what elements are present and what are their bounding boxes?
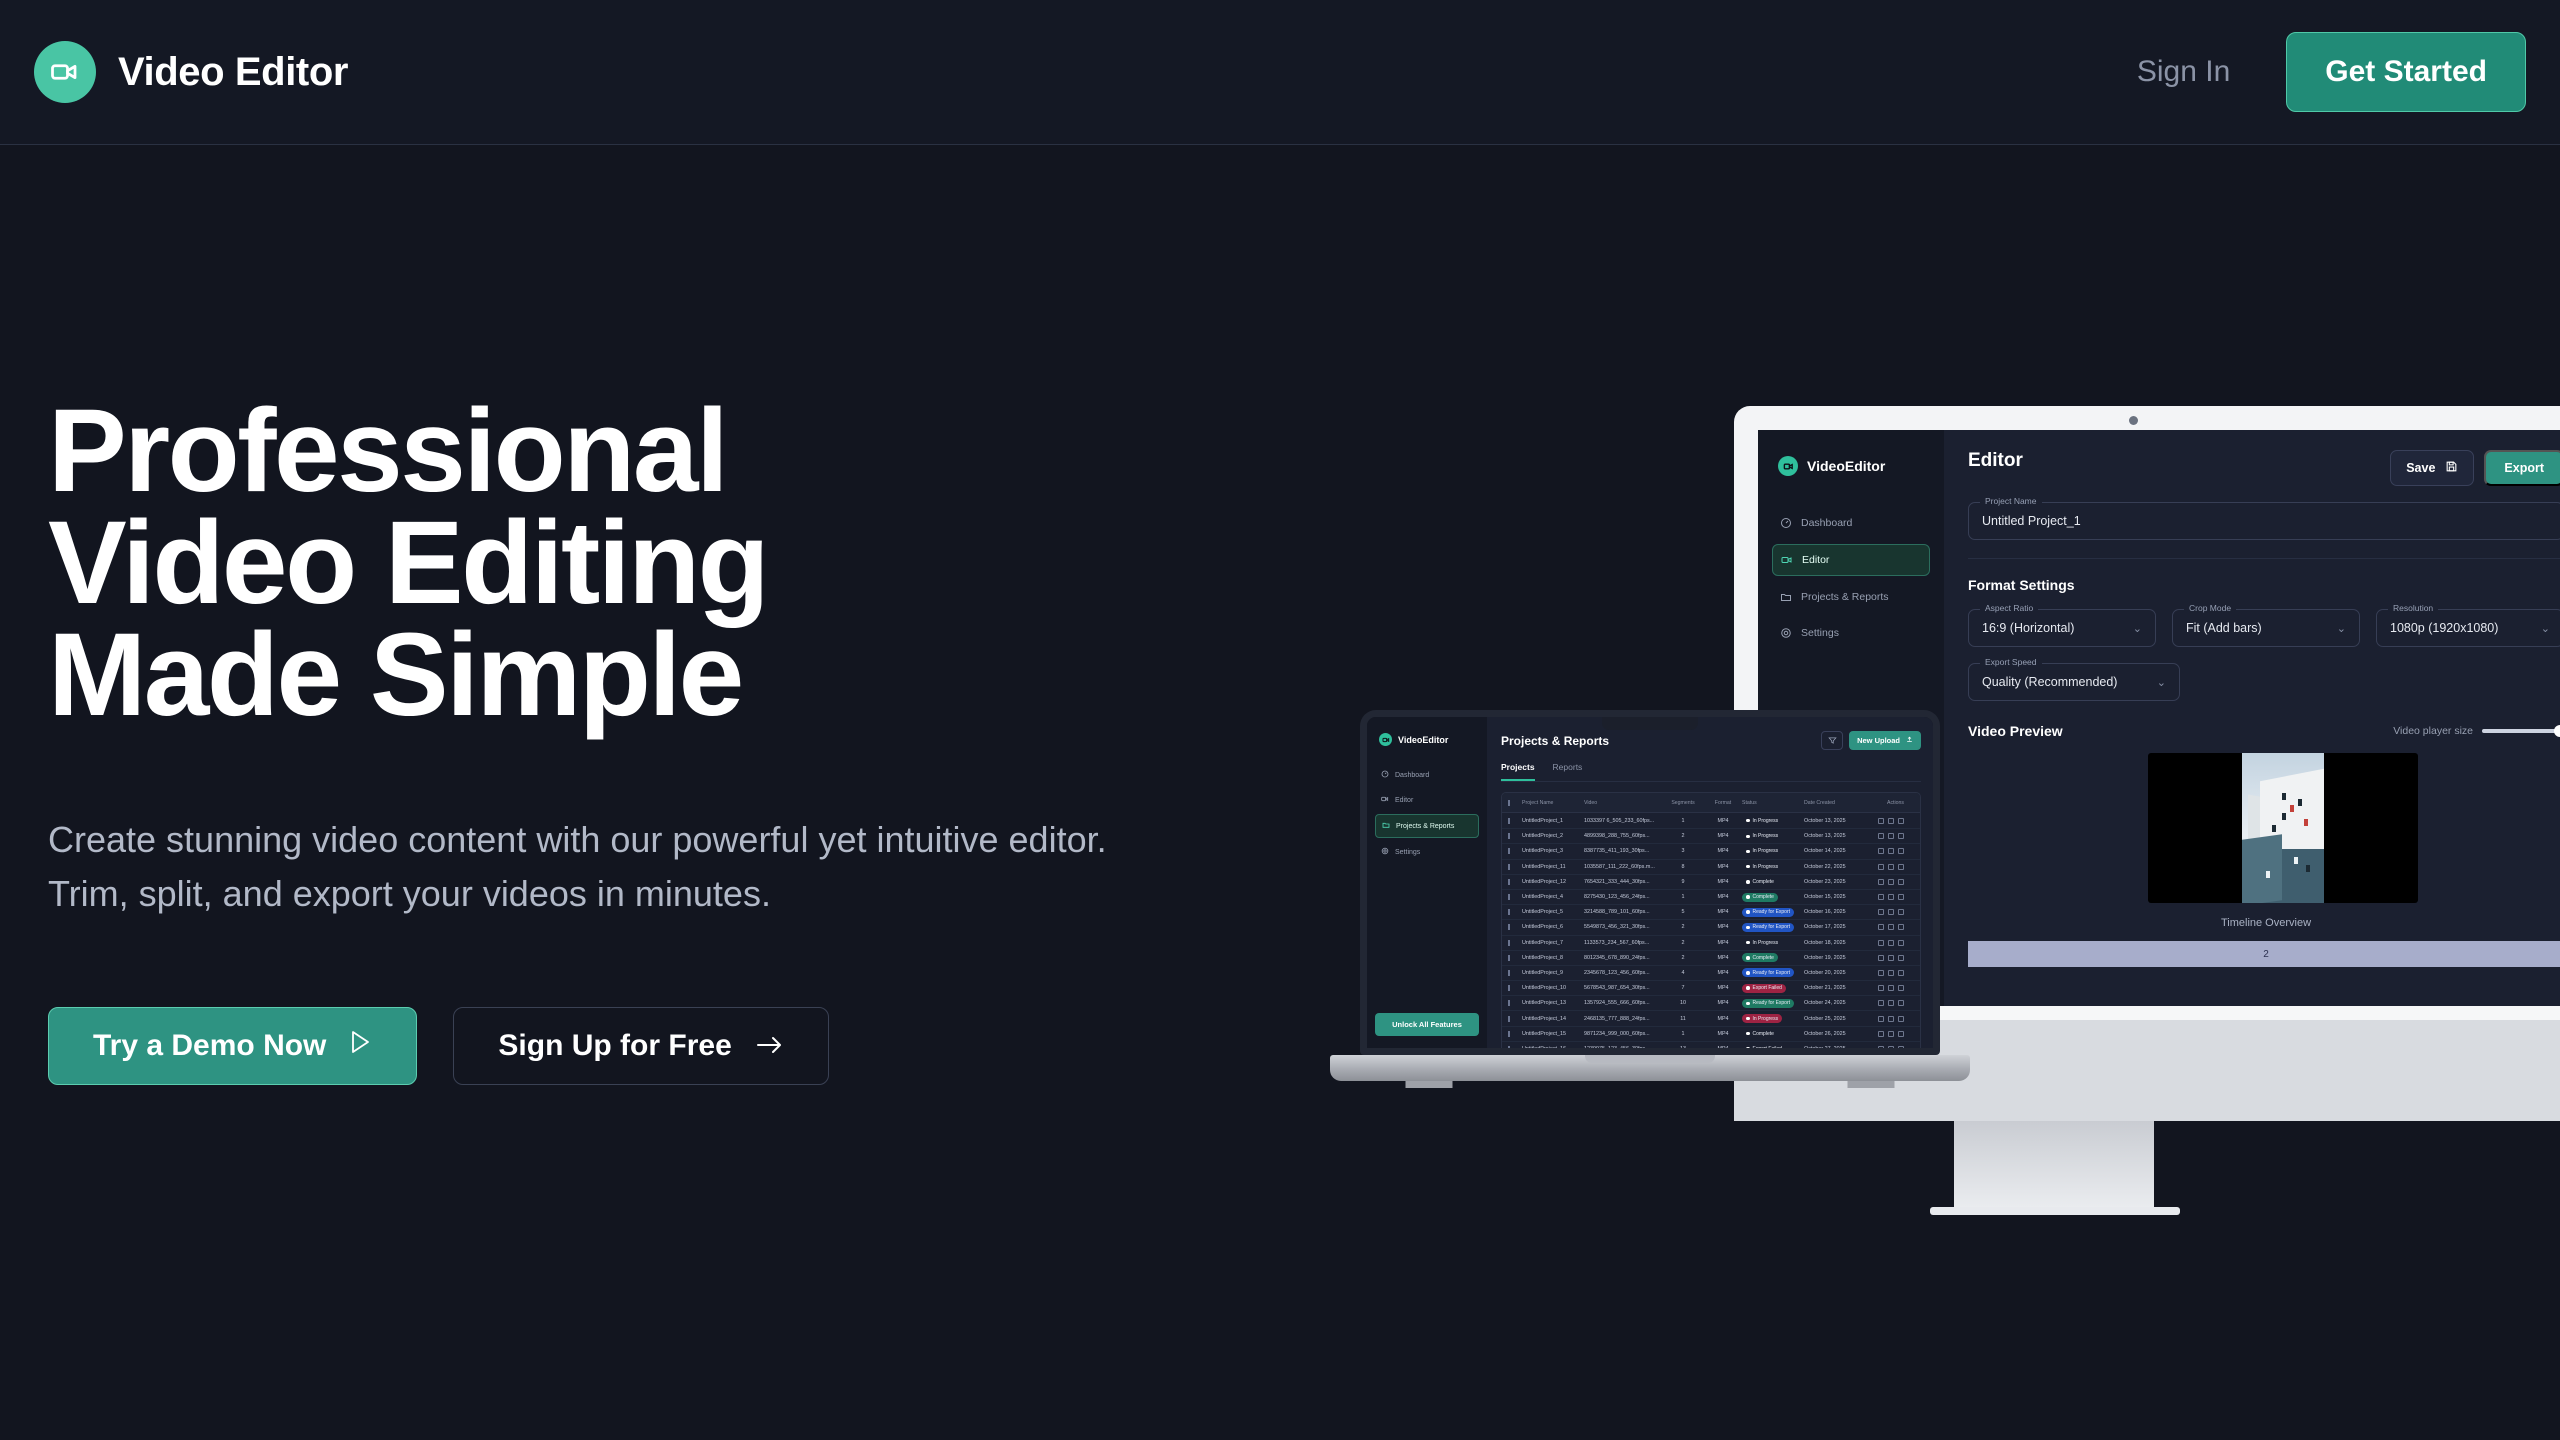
export-button[interactable]: Export [2484,450,2560,486]
cell-segments: 9 [1662,879,1704,885]
cell-date-created: October 25, 2025 [1804,1016,1866,1022]
status-badge: In Progress [1742,862,1804,871]
cell-video: 3214588_789_101_60fps... [1584,909,1662,915]
editor-header: Editor Save Export [1968,450,2560,486]
edit-icon[interactable] [1878,1000,1884,1006]
row-actions[interactable] [1866,848,1904,854]
player-size-slider[interactable] [2482,729,2560,733]
crop-mode-value: Fit (Add bars) [2186,621,2262,635]
unlock-all-features-button[interactable]: Unlock All Features [1375,1013,1479,1036]
delete-icon[interactable] [1898,909,1904,915]
download-icon[interactable] [1888,1000,1894,1006]
column-segments[interactable]: Segments [1662,800,1704,806]
cell-video: 8275430_123_456_24fps... [1584,894,1662,900]
try-demo-label: Try a Demo Now [93,1029,326,1063]
table-row[interactable]: UntitledProject_71133573_234_567_60fps..… [1502,935,1920,950]
cell-project-name: UntitledProject_3 [1522,848,1584,854]
cell-project-name: UntitledProject_1 [1522,818,1584,824]
row-checkbox[interactable] [1508,848,1522,854]
video-preview-stage[interactable] [2148,753,2418,903]
row-checkbox[interactable] [1508,1016,1522,1022]
monitor-foot [1930,1207,2180,1215]
row-checkbox[interactable] [1508,985,1522,991]
arrow-right-icon [756,1029,784,1063]
table-row[interactable]: UntitledProject_127654321_333_444_30fps.… [1502,874,1920,889]
row-actions[interactable] [1866,924,1904,930]
row-checkbox[interactable] [1508,909,1522,915]
edit-icon[interactable] [1878,909,1884,915]
page-title: Professional Video Editing Made Simple [48,395,1248,731]
delete-icon[interactable] [1898,970,1904,976]
projects-sidebar: VideoEditor Dashboard Editor Projects & … [1367,717,1487,1048]
cell-segments: 2 [1662,924,1704,930]
cell-date-created: October 27, 2025 [1804,1046,1866,1052]
cell-date-created: October 13, 2025 [1804,818,1866,824]
cell-project-name: UntitledProject_11 [1522,864,1584,870]
sidebar-item-editor[interactable]: Editor [1375,789,1479,811]
sign-up-free-label: Sign Up for Free [498,1029,731,1063]
column-format[interactable]: Format [1704,800,1742,806]
cell-video: 2345678_123_456_60fps... [1584,970,1662,976]
edit-icon[interactable] [1878,940,1884,946]
cell-format: MP4 [1704,833,1742,839]
status-badge: In Progress [1742,938,1804,947]
table-row[interactable]: UntitledProject_142468135_777_888_24fps.… [1502,1010,1920,1025]
gear-icon [1780,627,1792,639]
tab-reports[interactable]: Reports [1553,762,1583,781]
delete-icon[interactable] [1898,1000,1904,1006]
cell-date-created: October 16, 2025 [1804,909,1866,915]
cell-format: MP4 [1704,1046,1742,1052]
row-actions[interactable] [1866,1016,1904,1022]
delete-icon[interactable] [1898,833,1904,839]
sidebar-item-label: Dashboard [1801,517,1852,529]
cell-format: MP4 [1704,940,1742,946]
cell-project-name: UntitledProject_12 [1522,879,1584,885]
status-badge: Complete [1742,1029,1804,1038]
row-actions[interactable] [1866,985,1904,991]
cell-video: 5549873_456_321_30fps... [1584,924,1662,930]
table-row[interactable]: UntitledProject_88012345_678_890_24fps..… [1502,950,1920,965]
download-icon[interactable] [1888,955,1894,961]
hero-title-line-2: Video Editing [48,507,1248,619]
cell-date-created: October 24, 2025 [1804,1000,1866,1006]
cell-date-created: October 20, 2025 [1804,970,1866,976]
cell-date-created: October 26, 2025 [1804,1031,1866,1037]
table-row[interactable]: UntitledProject_111035587_111_222_60fps.… [1502,859,1920,874]
row-actions[interactable] [1866,1031,1904,1037]
cell-segments: 5 [1662,909,1704,915]
table-row[interactable]: UntitledProject_92345678_123_456_60fps..… [1502,965,1920,980]
aspect-ratio-value: 16:9 (Horizontal) [1982,621,2074,635]
player-size-control[interactable]: Video player size [2393,725,2560,737]
row-actions[interactable] [1866,894,1904,900]
edit-icon[interactable] [1878,1016,1884,1022]
chevron-down-icon: ⌄ [2133,622,2142,635]
get-started-button[interactable]: Get Started [2286,32,2526,112]
cell-segments: 3 [1662,848,1704,854]
delete-icon[interactable] [1898,848,1904,854]
cell-segments: 13 [1662,1046,1704,1052]
aspect-ratio-select[interactable]: Aspect Ratio 16:9 (Horizontal) ⌄ [1968,609,2156,647]
edit-icon[interactable] [1878,924,1884,930]
site-header: Video Editor Sign In Get Started [0,0,2560,145]
export-speed-row: Export Speed Quality (Recommended) ⌄ [1968,647,2560,701]
row-checkbox[interactable] [1508,818,1522,824]
cell-format: MP4 [1704,894,1742,900]
row-actions[interactable] [1866,1046,1904,1052]
row-checkbox[interactable] [1508,924,1522,930]
chevron-down-icon: ⌄ [2541,622,2550,635]
cell-date-created: October 17, 2025 [1804,924,1866,930]
row-actions[interactable] [1866,970,1904,976]
crop-mode-select[interactable]: Crop Mode Fit (Add bars) ⌄ [2172,609,2360,647]
status-badge: Complete [1742,893,1804,902]
gear-icon [1381,847,1389,857]
resolution-select[interactable]: Resolution 1080p (1920x1080) ⌄ [2376,609,2560,647]
delete-icon[interactable] [1898,1046,1904,1052]
cell-date-created: October 23, 2025 [1804,879,1866,885]
cell-segments: 4 [1662,970,1704,976]
table-row[interactable]: UntitledProject_53214588_789_101_60fps..… [1502,904,1920,919]
sidebar-item-settings[interactable]: Settings [1375,841,1479,863]
timeline-overview-caption: Timeline Overview [1968,917,2560,929]
cell-format: MP4 [1704,1000,1742,1006]
cell-video: 7654321_333_444_30fps... [1584,879,1662,885]
table-row[interactable]: UntitledProject_161239975_123_456_30fps.… [1502,1041,1920,1055]
edit-icon[interactable] [1878,955,1884,961]
projects-app-brand-name: VideoEditor [1398,735,1448,745]
cell-date-created: October 22, 2025 [1804,864,1866,870]
cell-project-name: UntitledProject_8 [1522,955,1584,961]
cell-project-name: UntitledProject_14 [1522,1016,1584,1022]
row-checkbox[interactable] [1508,955,1522,961]
cell-segments: 7 [1662,985,1704,991]
export-speed-label: Export Speed [1980,657,2042,667]
play-triangle-icon [348,1029,372,1063]
edit-icon[interactable] [1878,894,1884,900]
download-icon[interactable] [1888,848,1894,854]
table-header-row: Project Name Video Segments Format Statu… [1502,793,1920,813]
player-size-label: Video player size [2393,725,2473,737]
format-settings-title: Format Settings [1968,577,2560,593]
cell-video: 2468135_777_888_24fps... [1584,1016,1662,1022]
brand-logo[interactable]: Video Editor [34,41,348,103]
video-camera-icon [1379,733,1392,746]
table-row[interactable]: UntitledProject_48275430_123_456_24fps..… [1502,889,1920,904]
status-badge: Ready for Export [1742,968,1804,977]
delete-icon[interactable] [1898,894,1904,900]
sidebar-item-label: Settings [1395,849,1420,856]
save-button[interactable]: Save [2390,450,2474,486]
sidebar-item-projects-reports[interactable]: Projects & Reports [1772,582,1930,612]
column-date-created[interactable]: Date Created [1804,800,1866,806]
cell-project-name: UntitledProject_15 [1522,1031,1584,1037]
editor-main: Editor Save Export Project Name Untitled [1944,430,2560,1006]
cell-format: MP4 [1704,818,1742,824]
row-checkbox[interactable] [1508,940,1522,946]
crop-mode-label: Crop Mode [2184,603,2236,613]
row-checkbox[interactable] [1508,1046,1522,1052]
cell-segments: 8 [1662,864,1704,870]
sign-in-link[interactable]: Sign In [2137,55,2230,89]
chevron-down-icon: ⌄ [2157,676,2166,689]
resolution-label: Resolution [2388,603,2438,613]
cell-format: MP4 [1704,848,1742,854]
cell-project-name: UntitledProject_7 [1522,940,1584,946]
table-row[interactable]: UntitledProject_11033397 6_505_233_60fps… [1502,813,1920,828]
cell-video: 1035587_111_222_60fps.m... [1584,864,1662,870]
floppy-disk-icon [2445,460,2458,476]
cell-project-name: UntitledProject_9 [1522,970,1584,976]
download-icon[interactable] [1888,879,1894,885]
cell-format: MP4 [1704,1016,1742,1022]
hero-section: Professional Video Editing Made Simple C… [48,395,1248,1085]
row-checkbox[interactable] [1508,970,1522,976]
row-actions[interactable] [1866,864,1904,870]
project-name-label: Project Name [1980,496,2042,506]
row-actions[interactable] [1866,1000,1904,1006]
new-upload-button[interactable]: New Upload [1849,731,1921,750]
hero-subtitle: Create stunning video content with our p… [48,813,1118,921]
delete-icon[interactable] [1898,940,1904,946]
status-badge: Ready for Export [1742,908,1804,917]
sidebar-item-label: Projects & Reports [1396,823,1454,830]
table-row[interactable]: UntitledProject_159871234_999_000_60fps.… [1502,1026,1920,1041]
edit-icon[interactable] [1878,1031,1884,1037]
edit-icon[interactable] [1878,1046,1884,1052]
row-checkbox[interactable] [1508,864,1522,870]
cell-format: MP4 [1704,1031,1742,1037]
preview-thumbnail [2242,753,2324,903]
cell-project-name: UntitledProject_5 [1522,909,1584,915]
download-icon[interactable] [1888,894,1894,900]
cell-project-name: UntitledProject_10 [1522,985,1584,991]
cell-date-created: October 13, 2025 [1804,833,1866,839]
status-badge: In Progress [1742,832,1804,841]
cell-project-name: UntitledProject_2 [1522,833,1584,839]
sidebar-item-dashboard[interactable]: Dashboard [1772,508,1930,538]
laptop-notch [1602,717,1698,730]
cell-segments: 2 [1662,833,1704,839]
editor-page-title: Editor [1968,450,2023,472]
download-icon[interactable] [1888,818,1894,824]
delete-icon[interactable] [1898,879,1904,885]
divider [1968,558,2560,559]
export-speed-value: Quality (Recommended) [1982,675,2117,689]
table-body: UntitledProject_11033397 6_505_233_60fps… [1502,813,1920,1055]
hero-title-line-3: Made Simple [48,619,1248,731]
delete-icon[interactable] [1898,955,1904,961]
export-speed-select[interactable]: Export Speed Quality (Recommended) ⌄ [1968,663,2180,701]
gauge-icon [1780,517,1792,529]
editor-app-brand-name: VideoEditor [1807,458,1885,474]
folder-icon [1382,821,1390,831]
cell-date-created: October 18, 2025 [1804,940,1866,946]
cell-format: MP4 [1704,955,1742,961]
row-actions[interactable] [1866,909,1904,915]
chevron-down-icon: ⌄ [2337,622,2346,635]
delete-icon[interactable] [1898,1016,1904,1022]
download-icon[interactable] [1888,833,1894,839]
row-actions[interactable] [1866,955,1904,961]
row-checkbox[interactable] [1508,894,1522,900]
delete-icon[interactable] [1898,985,1904,991]
timeline-bar[interactable]: 2 [1968,941,2560,967]
download-icon[interactable] [1888,864,1894,870]
sidebar-item-dashboard[interactable]: Dashboard [1375,764,1479,786]
edit-icon[interactable] [1878,833,1884,839]
cell-format: MP4 [1704,924,1742,930]
edit-icon[interactable] [1878,818,1884,824]
product-mockups: VideoEditor Dashboard Editor [1330,390,2560,1220]
laptop-mockup: VideoEditor Dashboard Editor Projects & … [1330,710,1970,1130]
sidebar-item-label: Projects & Reports [1801,591,1889,603]
sidebar-item-editor[interactable]: Editor [1772,544,1930,576]
row-checkbox[interactable] [1508,833,1522,839]
cell-video: 1133573_234_567_60fps... [1584,940,1662,946]
edit-icon[interactable] [1878,970,1884,976]
video-camera-icon [34,41,96,103]
download-icon[interactable] [1888,940,1894,946]
cell-video: 1239975_123_456_30fps... [1584,1046,1662,1052]
cell-video: 9871234_999_000_60fps... [1584,1031,1662,1037]
cell-format: MP4 [1704,909,1742,915]
laptop-hinge-notch [1585,1055,1715,1063]
cell-date-created: October 15, 2025 [1804,894,1866,900]
sidebar-item-label: Dashboard [1395,772,1429,779]
sidebar-item-label: Editor [1395,797,1413,804]
cell-date-created: October 14, 2025 [1804,848,1866,854]
cell-video: 5678543_987_654_30fps... [1584,985,1662,991]
try-demo-button[interactable]: Try a Demo Now [48,1007,417,1085]
download-icon[interactable] [1888,1046,1894,1052]
aspect-ratio-label: Aspect Ratio [1980,603,2038,613]
table-row[interactable]: UntitledProject_65549873_456_321_30fps..… [1502,919,1920,934]
table-row[interactable]: UntitledProject_24899398_288_755_60fps..… [1502,828,1920,843]
sign-up-free-button[interactable]: Sign Up for Free [453,1007,828,1085]
row-checkbox[interactable] [1508,1031,1522,1037]
table-row[interactable]: UntitledProject_131357924_555_666_60fps.… [1502,995,1920,1010]
projects-header: Projects & Reports New Upload [1501,731,1921,750]
download-icon[interactable] [1888,924,1894,930]
projects-page-title: Projects & Reports [1501,734,1609,748]
cell-segments: 2 [1662,955,1704,961]
projects-header-actions: New Upload [1821,731,1921,750]
download-icon[interactable] [1888,909,1894,915]
column-status[interactable]: Status [1742,800,1804,806]
format-fields-row: Aspect Ratio 16:9 (Horizontal) ⌄ Crop Mo… [1968,593,2560,647]
status-badge: Export Failed [1742,1044,1804,1053]
delete-icon[interactable] [1898,818,1904,824]
video-camera-icon [1781,554,1793,566]
video-camera-icon [1778,456,1798,476]
status-badge: In Progress [1742,1014,1804,1023]
column-project-name[interactable]: Project Name [1522,800,1584,806]
sidebar-item-label: Editor [1802,554,1829,566]
edit-icon[interactable] [1878,879,1884,885]
column-video[interactable]: Video [1584,800,1662,806]
table-row[interactable]: UntitledProject_105678543_987_654_30fps.… [1502,980,1920,995]
row-checkbox[interactable] [1508,1000,1522,1006]
cell-video: 8012345_678_890_24fps... [1584,955,1662,961]
brand-name: Video Editor [118,50,348,95]
resolution-value: 1080p (1920x1080) [2390,621,2498,635]
download-icon[interactable] [1888,1016,1894,1022]
download-icon[interactable] [1888,970,1894,976]
filter-icon[interactable] [1821,731,1843,750]
row-actions[interactable] [1866,818,1904,824]
cell-format: MP4 [1704,864,1742,870]
row-actions[interactable] [1866,940,1904,946]
cell-date-created: October 19, 2025 [1804,955,1866,961]
table-row[interactable]: UntitledProject_38387735_411_193_30fps..… [1502,843,1920,858]
laptop-feet [1390,1081,1910,1088]
hero-title-line-1: Professional [48,395,1248,507]
row-actions[interactable] [1866,879,1904,885]
cell-project-name: UntitledProject_4 [1522,894,1584,900]
cell-video: 1357924_555_666_60fps... [1584,1000,1662,1006]
cell-segments: 1 [1662,894,1704,900]
edit-icon[interactable] [1878,864,1884,870]
projects-tabs: Projects Reports [1501,762,1921,782]
project-name-field[interactable]: Project Name Untitled Project_1 [1968,502,2560,540]
download-icon[interactable] [1888,1031,1894,1037]
cell-project-name: UntitledProject_16 [1522,1046,1584,1052]
folder-icon [1780,591,1792,603]
row-actions[interactable] [1866,833,1904,839]
header-actions: Sign In Get Started [2137,32,2526,112]
cell-video: 8387735_411_193_30fps... [1584,848,1662,854]
status-badge: Complete [1742,953,1804,962]
status-badge: Export Failed [1742,984,1804,993]
tab-projects[interactable]: Projects [1501,762,1535,781]
laptop-screen: VideoEditor Dashboard Editor Projects & … [1367,717,1933,1048]
cell-project-name: UntitledProject_6 [1522,924,1584,930]
row-checkbox[interactable] [1508,879,1522,885]
slider-knob[interactable] [2554,725,2560,737]
download-icon[interactable] [1888,985,1894,991]
sidebar-item-settings[interactable]: Settings [1772,618,1930,648]
editor-app-brand: VideoEditor [1772,456,1930,476]
cell-segments: 10 [1662,1000,1704,1006]
sidebar-item-label: Settings [1801,627,1839,639]
new-upload-label: New Upload [1857,736,1900,745]
cell-video: 4899398_288_755_60fps... [1584,833,1662,839]
monitor-stand [1954,1121,2154,1213]
select-all-checkbox[interactable] [1508,800,1522,806]
column-actions: Actions [1866,800,1904,806]
delete-icon[interactable] [1898,864,1904,870]
cell-segments: 1 [1662,818,1704,824]
upload-icon [1906,736,1913,745]
cell-segments: 2 [1662,940,1704,946]
video-preview-title: Video Preview [1968,723,2063,739]
delete-icon[interactable] [1898,1031,1904,1037]
video-preview-header: Video Preview Video player size [1968,723,2560,739]
save-label: Save [2406,461,2435,475]
cell-video: 1033397 6_505_233_60fps... [1584,818,1662,824]
edit-icon[interactable] [1878,848,1884,854]
status-badge: In Progress [1742,816,1804,825]
status-badge: Complete [1742,877,1804,886]
delete-icon[interactable] [1898,924,1904,930]
cell-format: MP4 [1704,879,1742,885]
project-name-value: Untitled Project_1 [1982,514,2081,528]
edit-icon[interactable] [1878,985,1884,991]
sidebar-item-projects-reports[interactable]: Projects & Reports [1375,814,1479,838]
projects-table: Project Name Video Segments Format Statu… [1501,792,1921,1055]
